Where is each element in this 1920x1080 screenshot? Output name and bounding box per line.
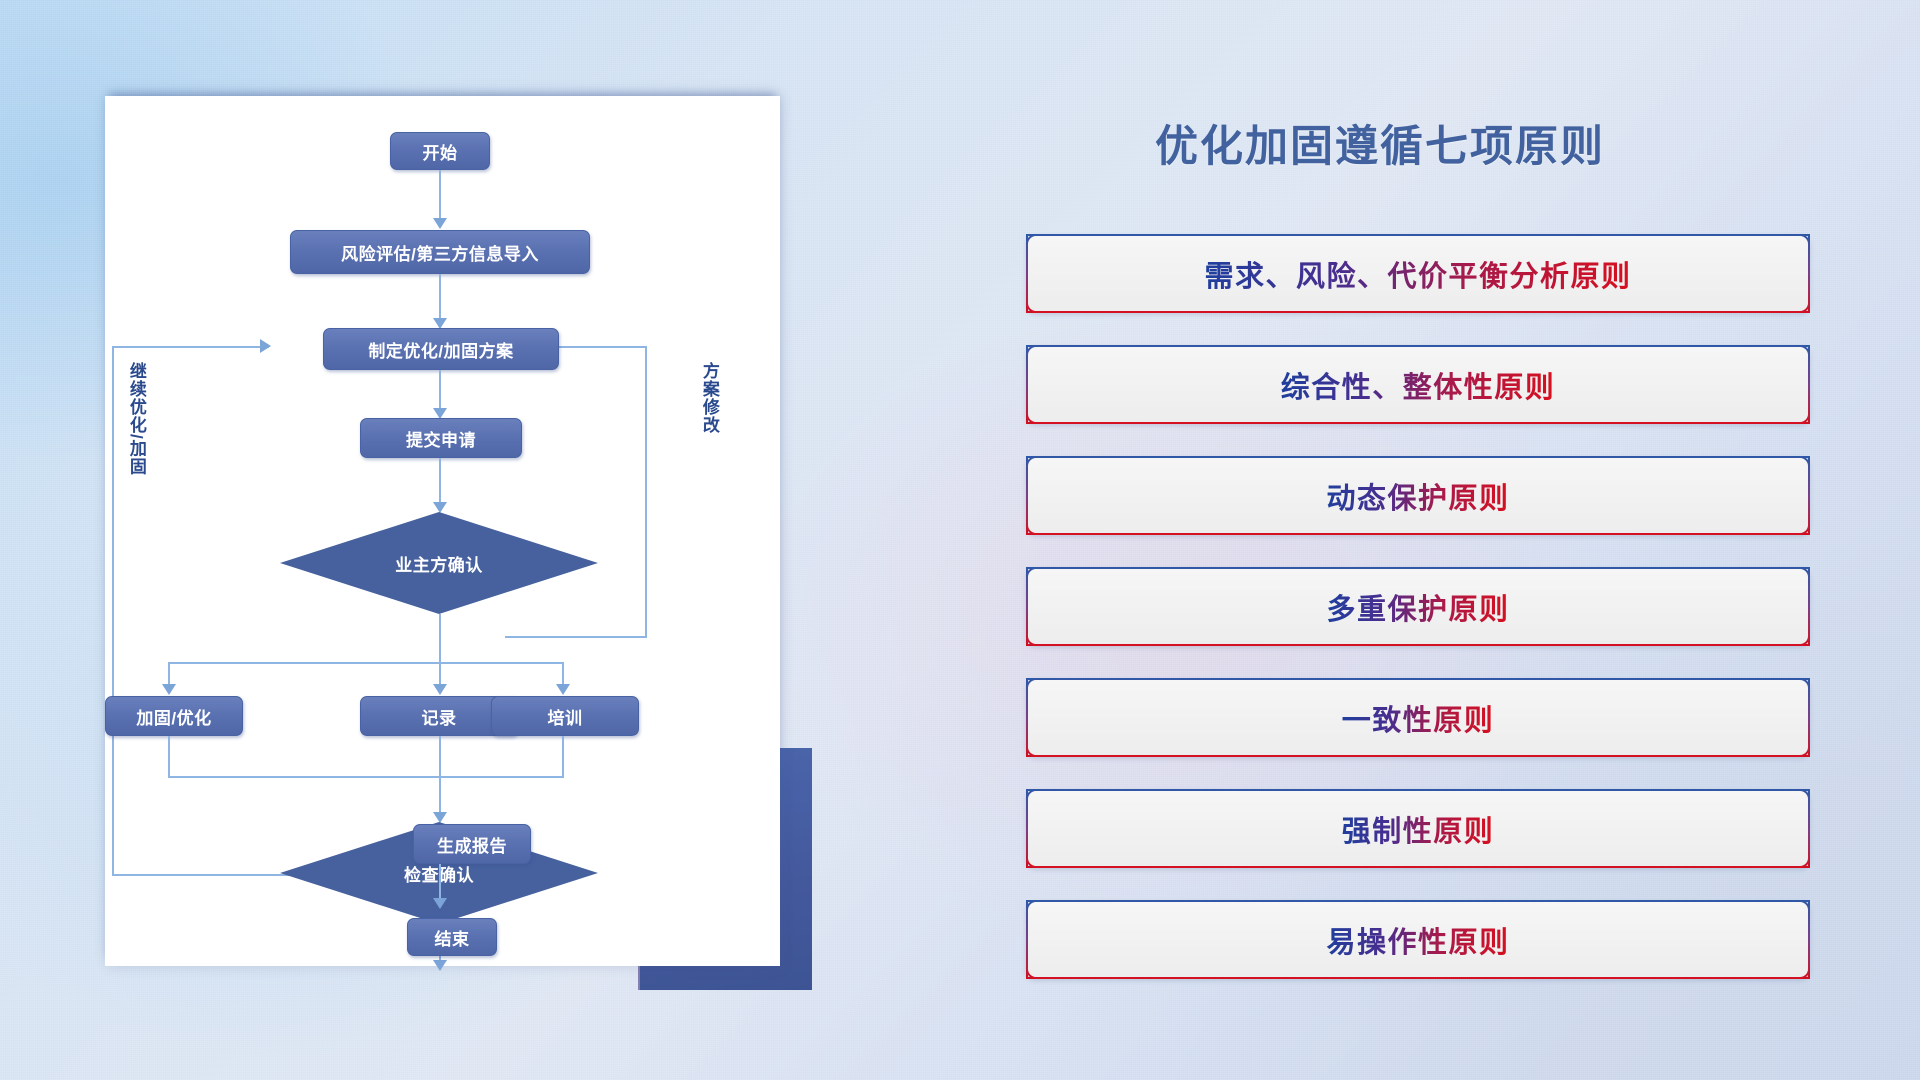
node-risk-label: 风险评估/第三方信息导入 — [341, 240, 539, 265]
principles-list: 需求、风险、代价平衡分析原则 综合性、整体性原则 动态保护原则 多重保护原则 一… — [1026, 234, 1810, 1011]
conn-record-down — [439, 736, 441, 820]
arrow-report-end — [433, 898, 447, 909]
principle-label: 动态保护原则 — [1326, 475, 1509, 517]
principle-card-3[interactable]: 动态保护原则 — [1026, 456, 1810, 535]
principle-label: 一致性原则 — [1342, 697, 1495, 739]
node-training[interactable]: 培训 — [491, 696, 639, 736]
conn-merge-bar — [168, 776, 564, 778]
arrow-submit-owner — [433, 502, 447, 513]
principle-card-5[interactable]: 一致性原则 — [1026, 678, 1810, 757]
principle-card-2[interactable]: 综合性、整体性原则 — [1026, 345, 1810, 424]
node-start-label: 开始 — [423, 139, 458, 164]
node-reinforce[interactable]: 加固/优化 — [105, 696, 243, 736]
node-start[interactable]: 开始 — [390, 132, 490, 170]
arrow-check-report — [433, 960, 447, 971]
conn-owner-fan-bar — [168, 662, 564, 664]
node-plan-label: 制定优化/加固方案 — [368, 337, 513, 362]
principle-label: 多重保护原则 — [1326, 586, 1509, 628]
node-record-label: 记录 — [422, 704, 457, 729]
principle-label: 强制性原则 — [1342, 808, 1495, 850]
left-loop-label: 继续优化/加固 — [127, 362, 145, 476]
arrow-start-risk — [433, 218, 447, 229]
node-owner-confirm-label: 业主方确认 — [395, 551, 483, 576]
right-loop-label: 方案修改 — [700, 362, 718, 434]
node-training-label: 培训 — [548, 704, 583, 729]
principle-label: 需求、风险、代价平衡分析原则 — [1204, 253, 1631, 295]
node-end-box[interactable]: 结束 — [407, 918, 497, 956]
loop-right-bottom — [505, 636, 647, 638]
node-reinforce-label: 加固/优化 — [136, 704, 211, 729]
principle-label: 易操作性原则 — [1326, 919, 1509, 961]
node-risk[interactable]: 风险评估/第三方信息导入 — [290, 230, 590, 274]
node-submit[interactable]: 提交申请 — [360, 418, 522, 458]
arrow-fan-left — [162, 684, 176, 695]
node-owner-confirm[interactable]: 业主方确认 — [280, 512, 598, 614]
principle-label: 综合性、整体性原则 — [1281, 364, 1556, 406]
loop-right-line — [645, 346, 647, 638]
conn-owner-fan-stem — [439, 614, 441, 664]
principle-card-1[interactable]: 需求、风险、代价平衡分析原则 — [1026, 234, 1810, 313]
loop-left-top — [112, 346, 269, 348]
loop-left-line — [112, 346, 114, 876]
node-submit-label: 提交申请 — [406, 426, 476, 451]
conn-training-down — [562, 736, 564, 778]
panel-title: 优化加固遵循七项原则 — [1155, 112, 1605, 174]
node-end-label: 结束 — [435, 925, 470, 950]
arrow-fan-mid — [433, 684, 447, 695]
principle-card-7[interactable]: 易操作性原则 — [1026, 900, 1810, 979]
loop-left-arrow — [260, 339, 271, 353]
arrow-fan-right — [556, 684, 570, 695]
principle-card-4[interactable]: 多重保护原则 — [1026, 567, 1810, 646]
conn-reinforce-down — [168, 736, 170, 778]
node-plan[interactable]: 制定优化/加固方案 — [323, 328, 559, 370]
node-report-box[interactable]: 生成报告 — [413, 824, 531, 864]
arrow-merge-check — [433, 812, 447, 823]
node-report-label: 生成报告 — [437, 832, 507, 857]
principle-card-6[interactable]: 强制性原则 — [1026, 789, 1810, 868]
